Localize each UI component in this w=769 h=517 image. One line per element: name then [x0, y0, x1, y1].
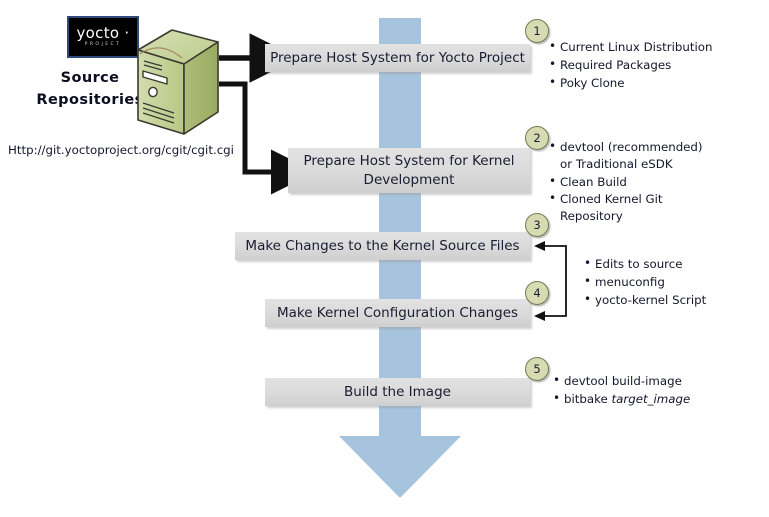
list-item: Required Packages: [549, 57, 712, 74]
source-repositories-title: Source Repositories: [32, 68, 148, 112]
bitbake-target-param: target_image: [612, 392, 691, 406]
notes-step-1: Current Linux Distribution Required Pack…: [549, 39, 712, 92]
source-repository-url: Http://git.yoctoproject.org/cgit/cgit.cg…: [8, 143, 234, 157]
list-item: Clean Build: [549, 174, 717, 191]
box-label-step-3: Make Changes to the Kernel Source Files: [245, 237, 519, 255]
yocto-project-logo: yocto · PROJECT: [67, 16, 139, 58]
notes-step-2: devtool (recommended) or Traditional eSD…: [549, 139, 717, 226]
process-box-step-3[interactable]: Make Changes to the Kernel Source Files: [235, 232, 530, 260]
box-label-step-1: Prepare Host System for Yocto Project: [270, 49, 525, 67]
step-badge-2: 2: [525, 126, 549, 150]
box-label-step-2-line1: Prepare Host System for Kernel: [303, 153, 514, 169]
list-item: bitbake target_image: [553, 391, 690, 408]
logo-wordmark: yocto ·: [77, 26, 130, 41]
list-item: yocto-kernel Script: [584, 292, 706, 309]
box-label-step-4: Make Kernel Configuration Changes: [277, 304, 518, 322]
list-item: Edits to source: [584, 256, 706, 273]
step-badge-4: 4: [525, 281, 549, 305]
box-label-step-5: Build the Image: [344, 383, 451, 401]
diagram-canvas: yocto · PROJECT Source Repositories Http…: [0, 0, 769, 517]
server-tower-icon: [134, 28, 222, 140]
step-badge-3: 3: [525, 213, 549, 237]
process-box-step-4[interactable]: Make Kernel Configuration Changes: [265, 299, 530, 327]
process-box-step-5[interactable]: Build the Image: [265, 378, 530, 406]
list-item: Poky Clone: [549, 75, 712, 92]
notes-step-5: devtool build-image bitbake target_image: [553, 373, 690, 409]
list-item: Current Linux Distribution: [549, 39, 712, 56]
notes-steps-3-and-4: Edits to source menuconfig yocto-kernel …: [584, 256, 706, 309]
process-box-step-1[interactable]: Prepare Host System for Yocto Project: [265, 44, 530, 72]
box-label-step-2-line2: Development: [364, 172, 455, 188]
flow-band: [379, 18, 421, 438]
list-item: Cloned Kernel Git Repository: [549, 191, 717, 225]
source-title-line2: Repositories: [32, 90, 148, 112]
process-box-step-2[interactable]: Prepare Host System for Kernel Developme…: [288, 148, 530, 193]
bitbake-command: bitbake: [564, 392, 612, 406]
list-item: menuconfig: [584, 274, 706, 291]
list-item: devtool build-image: [553, 373, 690, 390]
list-item: devtool (recommended) or Traditional eSD…: [549, 139, 717, 173]
flow-arrowhead-icon: [339, 436, 461, 498]
box-label-step-2: Prepare Host System for Kernel Developme…: [303, 152, 514, 188]
source-title-line1: Source: [32, 68, 148, 90]
step-badge-1: 1: [525, 19, 549, 43]
step-badge-5: 5: [525, 357, 549, 381]
logo-subtext: PROJECT: [85, 43, 122, 48]
